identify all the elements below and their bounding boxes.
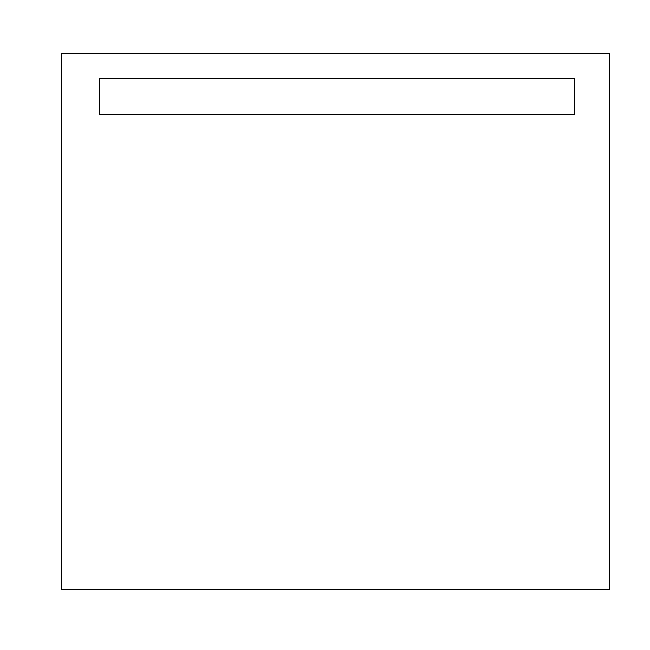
colorbar — [99, 78, 575, 115]
colorbar-gradient — [100, 79, 574, 114]
chart-root — [0, 0, 650, 650]
